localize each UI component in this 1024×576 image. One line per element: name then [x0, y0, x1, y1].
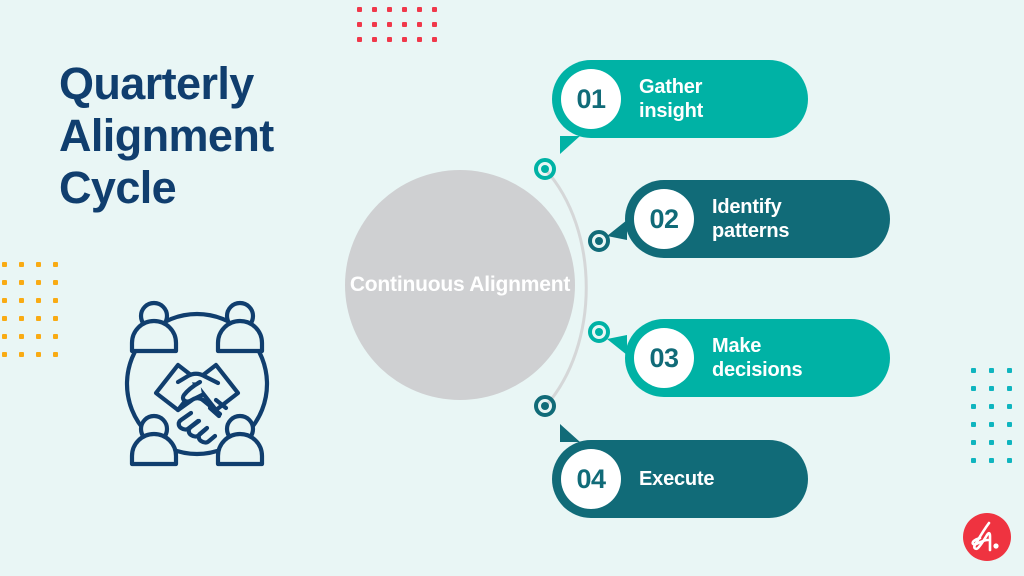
decor-dot: [1007, 440, 1012, 445]
decor-dot-row: [357, 7, 447, 22]
decor-dot: [53, 316, 58, 321]
decorative-dots-left: [2, 262, 70, 370]
decor-dot: [357, 22, 362, 27]
decor-dot: [19, 334, 24, 339]
decor-dot: [2, 262, 7, 267]
decor-dot: [989, 404, 994, 409]
pill-tail-04: [560, 424, 580, 442]
decor-dot: [432, 22, 437, 27]
decor-dot: [402, 22, 407, 27]
decor-dot: [372, 22, 377, 27]
decor-dot: [1007, 458, 1012, 463]
handshake-teamwork-icon: [118, 292, 276, 477]
decor-dot-row: [971, 404, 1024, 422]
decor-dot-row: [2, 280, 70, 298]
decor-dot: [971, 440, 976, 445]
step-number-03: 03: [649, 343, 678, 374]
decor-dot: [989, 422, 994, 427]
decor-dot: [372, 7, 377, 12]
step-pill-03[interactable]: 03 Make decisions: [625, 319, 890, 397]
decor-dot: [53, 298, 58, 303]
step-number-badge-02: 02: [634, 189, 694, 249]
step-pill-01[interactable]: 01 Gather insight: [552, 60, 808, 138]
decor-dot-row: [2, 352, 70, 370]
decor-dot: [19, 316, 24, 321]
step-number-badge-03: 03: [634, 328, 694, 388]
decor-dot: [372, 37, 377, 42]
decor-dot: [53, 334, 58, 339]
decor-dot: [1007, 386, 1012, 391]
page-title: Quarterly Alignment Cycle: [59, 58, 389, 215]
decor-dot-row: [2, 334, 70, 352]
decor-dot-row: [357, 0, 447, 7]
step-label-02: Identify patterns: [712, 195, 789, 243]
step-number-01: 01: [576, 84, 605, 115]
decor-dot-row: [971, 386, 1024, 404]
connector-dot-01: [534, 158, 556, 180]
decor-dot: [19, 298, 24, 303]
decor-dot: [989, 386, 994, 391]
decor-dot: [19, 280, 24, 285]
decor-dot: [989, 458, 994, 463]
decor-dot: [19, 352, 24, 357]
decor-dot: [971, 458, 976, 463]
decor-dot: [417, 7, 422, 12]
decor-dot: [971, 404, 976, 409]
decor-dot: [1007, 368, 1012, 373]
decor-dot-row: [2, 298, 70, 316]
decor-dot-row: [971, 458, 1024, 476]
step-pill-04[interactable]: 04 Execute: [552, 440, 808, 518]
step-number-badge-01: 01: [561, 69, 621, 129]
decor-dot: [417, 22, 422, 27]
decor-dot: [432, 37, 437, 42]
pill-tail-02: [607, 220, 627, 240]
step-pill-02[interactable]: 02 Identify patterns: [625, 180, 890, 258]
decorative-dots-top: [357, 0, 447, 52]
decor-dot: [387, 22, 392, 27]
decor-dot: [53, 280, 58, 285]
decor-dot: [53, 262, 58, 267]
decor-dot: [36, 280, 41, 285]
decor-dot: [2, 280, 7, 285]
step-number-04: 04: [576, 464, 605, 495]
step-label-01: Gather insight: [639, 75, 703, 123]
decor-dot: [53, 352, 58, 357]
decor-dot: [2, 352, 7, 357]
decor-dot: [19, 262, 24, 267]
decor-dot: [36, 334, 41, 339]
decor-dot: [387, 37, 392, 42]
decor-dot: [2, 298, 7, 303]
step-label-04: Execute: [639, 467, 714, 491]
decor-dot: [387, 7, 392, 12]
decor-dot: [1007, 404, 1012, 409]
decor-dot: [2, 316, 7, 321]
decor-dot: [36, 262, 41, 267]
decor-dot: [989, 440, 994, 445]
decor-dot-row: [2, 262, 70, 280]
decor-dot-row: [971, 440, 1024, 458]
decor-dot: [357, 7, 362, 12]
decor-dot-row: [357, 37, 447, 52]
decor-dot: [971, 386, 976, 391]
decor-dot-row: [971, 368, 1024, 386]
decor-dot-row: [357, 22, 447, 37]
brand-logo: [962, 512, 1012, 562]
connector-dot-04: [534, 395, 556, 417]
decor-dot: [36, 316, 41, 321]
decor-dot: [1007, 422, 1012, 427]
pill-tail-01: [560, 136, 580, 154]
infographic-canvas: Quarterly Alignment Cycle: [0, 0, 1024, 576]
decor-dot: [357, 37, 362, 42]
decor-dot: [402, 7, 407, 12]
decorative-dots-right: [971, 368, 1024, 476]
step-number-badge-04: 04: [561, 449, 621, 509]
decor-dot: [417, 37, 422, 42]
decor-dot: [2, 334, 7, 339]
decor-dot: [432, 7, 437, 12]
center-circle: Continuous Alignment: [345, 170, 575, 400]
step-label-03: Make decisions: [712, 334, 802, 382]
decor-dot: [971, 422, 976, 427]
pill-tail-03: [607, 335, 627, 355]
decor-dot: [36, 298, 41, 303]
decor-dot: [402, 37, 407, 42]
decor-dot-row: [2, 316, 70, 334]
step-number-02: 02: [649, 204, 678, 235]
decor-dot: [36, 352, 41, 357]
decor-dot: [989, 368, 994, 373]
center-label: Continuous Alignment: [350, 272, 570, 299]
decor-dot-row: [971, 422, 1024, 440]
decor-dot: [971, 368, 976, 373]
